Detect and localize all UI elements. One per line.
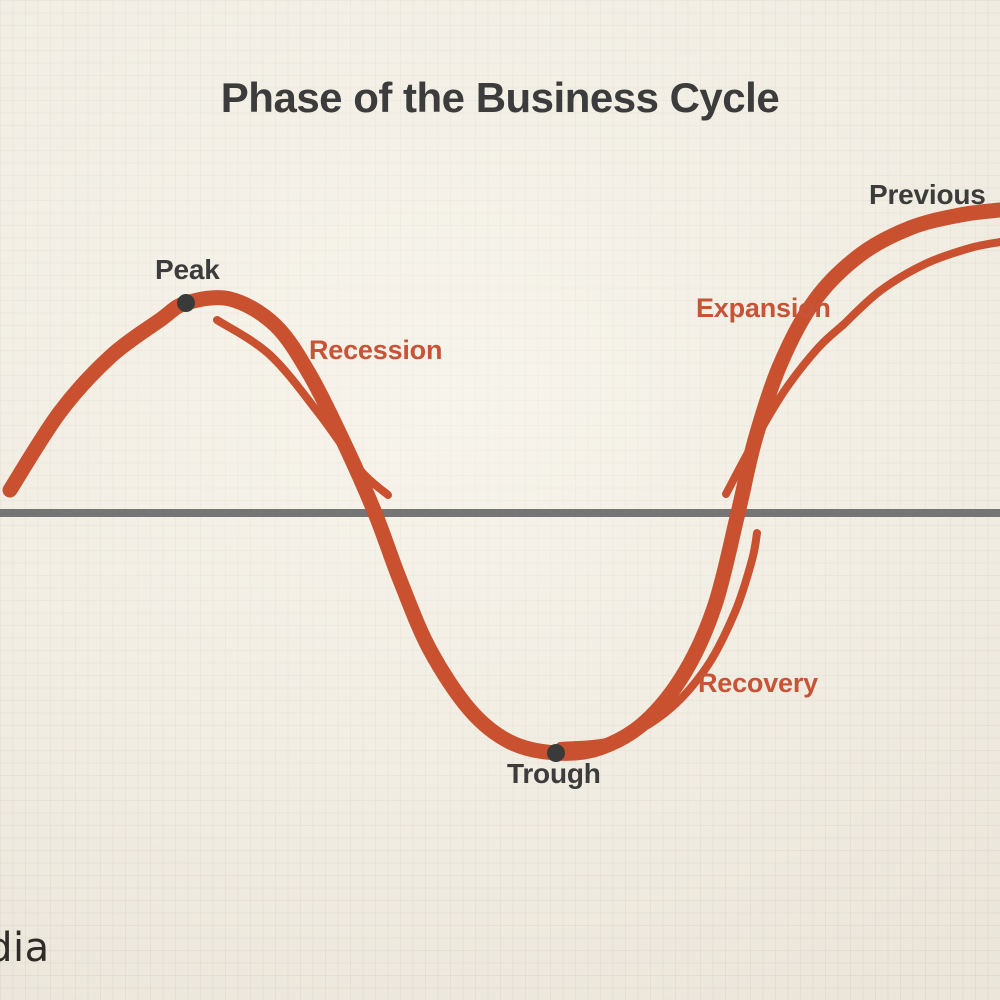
- business-cycle-diagram: Phase of the Business Cycle Peak Recessi…: [0, 0, 1000, 1000]
- curve-group: [10, 210, 1000, 753]
- annotation-label-expansion: Expansion: [696, 295, 831, 322]
- page-title: Phase of the Business Cycle: [0, 74, 1000, 122]
- annotation-label-previous: Previous: [869, 181, 986, 209]
- watermark-text: edia: [0, 925, 50, 971]
- business-cycle-curve: [10, 210, 1000, 753]
- marker-dot-peak: [177, 294, 195, 312]
- annotation-label-trough: Trough: [507, 760, 601, 788]
- annotation-label-recession: Recession: [309, 337, 442, 364]
- cycle-plot: [0, 0, 1000, 1000]
- annotation-label-recovery: Recovery: [698, 670, 818, 697]
- annotation-label-peak: Peak: [155, 256, 220, 284]
